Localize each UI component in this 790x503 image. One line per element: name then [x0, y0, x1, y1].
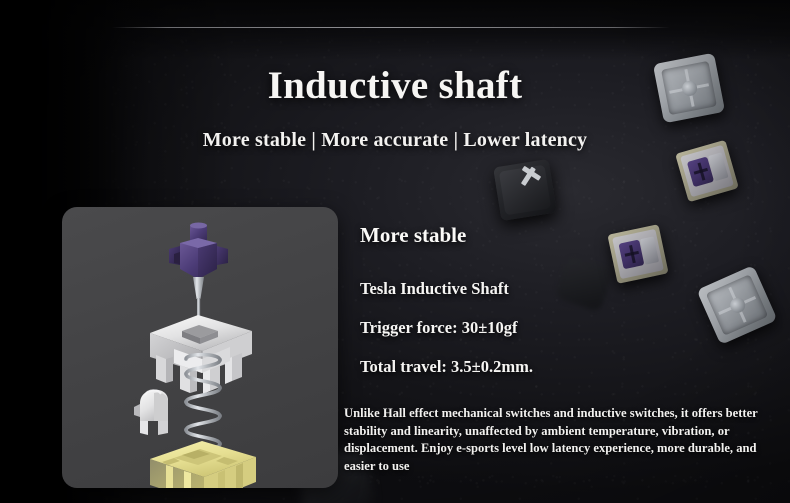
page-subtitle: More stable | More accurate | Lower late… — [0, 129, 790, 152]
diagram-part-bottom-housing — [150, 441, 256, 488]
description-paragraph: Unlike Hall effect mechanical switches a… — [344, 405, 764, 475]
spec-line-total-travel: Total travel: 3.5±0.2mm. — [360, 357, 533, 377]
product-slide: Inductive shaft More stable | More accur… — [0, 0, 790, 503]
page-title: Inductive shaft — [0, 63, 790, 108]
spec-line-name: Tesla Inductive Shaft — [360, 279, 509, 299]
top-divider — [112, 27, 670, 28]
section-heading: More stable — [360, 223, 466, 248]
exploded-switch-diagram — [62, 207, 338, 488]
spec-line-trigger-force: Trigger force: 30±10gf — [360, 318, 518, 338]
diagram-part-stem — [169, 223, 228, 280]
diagram-part-inductive-pin — [193, 277, 204, 320]
diagram-part-slider — [134, 390, 168, 435]
switch-diagram-card — [62, 207, 338, 488]
